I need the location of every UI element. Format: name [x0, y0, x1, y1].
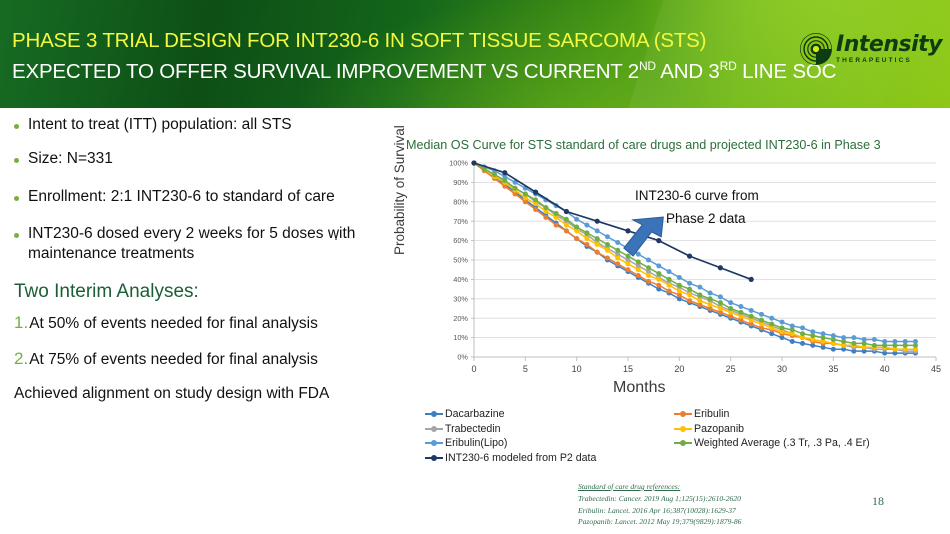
chart-y-axis-label: Probability of Survival: [392, 125, 407, 255]
subtitle-part-b: AND 3: [656, 60, 720, 83]
list-item: Intent to treat (ITT) population: all ST…: [0, 115, 400, 135]
closing-statement: Achieved alignment on study design with …: [0, 385, 400, 403]
bullet-dot-icon: [14, 233, 19, 238]
subtitle-part-a: EXPECTED TO OFFER SURVIVAL IMPROVEMENT V…: [12, 60, 639, 83]
legend-column-2: EribulinPazopanibWeighted Average (.3 Tr…: [674, 407, 870, 451]
numbered-item-number: 1.: [14, 313, 28, 333]
bullet-dot-icon: [14, 124, 19, 129]
svg-text:5: 5: [523, 364, 528, 374]
list-item: Size: N=331: [0, 149, 400, 169]
bullet-text: Intent to treat (ITT) population: all ST…: [28, 115, 292, 135]
list-item: INT230-6 dosed every 2 weeks for 5 doses…: [0, 224, 400, 264]
reference-line: Eribulin: Lancet. 2016 Apr 16;387(10028)…: [578, 505, 741, 517]
svg-text:70%: 70%: [453, 217, 468, 226]
legend-column-1: DacarbazineTrabectedinEribulin(Lipo)INT2…: [425, 407, 596, 465]
svg-text:45: 45: [931, 364, 941, 374]
svg-text:0: 0: [471, 364, 476, 374]
legend-label: Weighted Average (.3 Tr, .3 Pa, .4 Er): [694, 437, 870, 449]
legend-swatch-icon: [425, 438, 443, 448]
subtitle-sup-rd: RD: [720, 59, 737, 73]
company-logo: Intensity THERAPEUTICS: [799, 26, 942, 72]
reference-line: Trabectedin: Cancer. 2019 Aug 1;125(15):…: [578, 493, 741, 505]
legend-swatch-icon: [425, 453, 443, 463]
svg-text:40: 40: [880, 364, 890, 374]
logo-tagline: THERAPEUTICS: [836, 58, 912, 65]
legend-item[interactable]: Dacarbazine: [425, 407, 596, 422]
left-content-column: Intent to treat (ITT) population: all ST…: [0, 115, 400, 403]
legend-swatch-icon: [425, 409, 443, 419]
legend-label: Eribulin(Lipo): [445, 437, 507, 449]
svg-text:50%: 50%: [453, 256, 468, 265]
chart-x-tick-labels: 051015202530354045: [471, 364, 941, 374]
svg-text:0%: 0%: [457, 353, 468, 362]
svg-text:90%: 90%: [453, 178, 468, 187]
bullet-text: Size: N=331: [28, 149, 113, 169]
numbered-item: 2. At 75% of events needed for final ana…: [0, 349, 400, 369]
os-curve-chart: Median OS Curve for STS standard of care…: [398, 135, 950, 425]
legend-item[interactable]: Eribulin: [674, 407, 870, 422]
bullet-dot-icon: [14, 158, 19, 163]
bullet-text: INT230-6 dosed every 2 weeks for 5 doses…: [28, 224, 383, 264]
numbered-item-text: At 50% of events needed for final analys…: [29, 315, 318, 333]
legend-item[interactable]: Pazopanib: [674, 422, 870, 437]
svg-text:25: 25: [726, 364, 736, 374]
legend-swatch-icon: [674, 438, 692, 448]
svg-text:30: 30: [777, 364, 787, 374]
annotation-line-2: Phase 2 data: [666, 211, 746, 226]
legend-swatch-icon: [425, 424, 443, 434]
legend-label: Dacarbazine: [445, 408, 504, 420]
page-subtitle: EXPECTED TO OFFER SURVIVAL IMPROVEMENT V…: [12, 59, 836, 84]
svg-text:10%: 10%: [453, 333, 468, 342]
legend-swatch-icon: [674, 409, 692, 419]
svg-text:20%: 20%: [453, 314, 468, 323]
chart-y-tick-labels: 0%10%20%30%40%50%60%70%80%90%100%: [449, 159, 468, 362]
logo-wordmark: Intensity THERAPEUTICS: [836, 34, 942, 65]
legend-label: Trabectedin: [445, 423, 501, 435]
legend-label: Pazopanib: [694, 423, 744, 435]
svg-text:80%: 80%: [453, 197, 468, 206]
numbered-item-text: At 75% of events needed for final analys…: [29, 351, 318, 369]
chart-x-axis-label: Months: [613, 379, 665, 397]
references-heading: Standard of care drug references:: [578, 481, 741, 493]
slide-header-banner: PHASE 3 TRIAL DESIGN FOR INT230-6 IN SOF…: [0, 0, 950, 108]
svg-text:60%: 60%: [453, 236, 468, 245]
svg-text:20: 20: [674, 364, 684, 374]
logo-name: Intensity: [836, 34, 942, 56]
legend-item[interactable]: Weighted Average (.3 Tr, .3 Pa, .4 Er): [674, 436, 870, 451]
chart-title: Median OS Curve for STS standard of care…: [406, 138, 881, 152]
svg-text:10: 10: [572, 364, 582, 374]
legend-label: INT230-6 modeled from P2 data: [445, 452, 596, 464]
legend-item[interactable]: INT230-6 modeled from P2 data: [425, 451, 596, 466]
page-number: 18: [872, 494, 884, 509]
legend-swatch-icon: [674, 424, 692, 434]
callout-arrow-icon: [613, 213, 673, 273]
numbered-item: 1. At 50% of events needed for final ana…: [0, 313, 400, 333]
reference-line: Pazopanib: Lancet. 2012 May 19;379(9829)…: [578, 516, 741, 528]
legend-item[interactable]: Eribulin(Lipo): [425, 436, 596, 451]
numbered-item-number: 2.: [14, 349, 28, 369]
legend-item[interactable]: Trabectedin: [425, 422, 596, 437]
bullet-text: Enrollment: 2:1 INT230-6 to standard of …: [28, 187, 335, 207]
spiral-logo-icon: [799, 32, 833, 66]
page-title: PHASE 3 TRIAL DESIGN FOR INT230-6 IN SOF…: [12, 29, 706, 53]
svg-text:40%: 40%: [453, 275, 468, 284]
section-heading: Two Interim Analyses:: [0, 281, 400, 303]
svg-text:35: 35: [828, 364, 838, 374]
annotation-line-1: INT230-6 curve from: [635, 188, 759, 203]
svg-text:30%: 30%: [453, 294, 468, 303]
list-item: Enrollment: 2:1 INT230-6 to standard of …: [0, 187, 400, 207]
stray-dot-mark: [335, 238, 337, 240]
legend-label: Eribulin: [694, 408, 729, 420]
subtitle-sup-nd: ND: [639, 59, 656, 73]
bullet-dot-icon: [14, 196, 19, 201]
references-footnote: Standard of care drug references: Trabec…: [578, 481, 741, 528]
svg-text:15: 15: [623, 364, 633, 374]
svg-text:100%: 100%: [449, 159, 468, 168]
